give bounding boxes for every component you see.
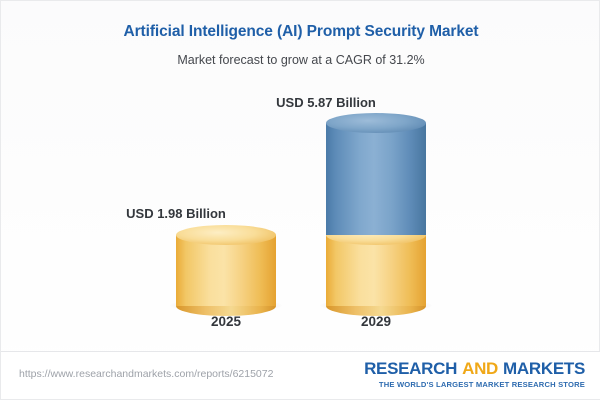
bar-2025[interactable] — [176, 221, 276, 306]
bar-2029[interactable] — [326, 110, 426, 306]
bar-segment-base-2025 — [176, 235, 276, 306]
cylinder-body — [176, 235, 276, 306]
value-label-2025: USD 1.98 Billion — [66, 206, 286, 221]
cylinder-body — [326, 123, 426, 235]
category-label-2029: 2029 — [296, 314, 456, 329]
category-label-2025: 2025 — [146, 314, 306, 329]
report-url[interactable]: https://www.researchandmarkets.com/repor… — [19, 368, 273, 380]
cylinder-body — [326, 235, 426, 306]
value-label-2029: USD 5.87 Billion — [216, 95, 436, 110]
research-and-markets-logo[interactable]: RESEARCHANDMARKETS THE WORLD'S LARGEST M… — [364, 360, 585, 389]
plot-area: USD 1.98 Billion 2025 USD 5.87 Billion — [1, 1, 600, 353]
logo-tagline: THE WORLD'S LARGEST MARKET RESEARCH STOR… — [364, 380, 585, 389]
chart-canvas: Artificial Intelligence (AI) Prompt Secu… — [0, 0, 600, 400]
cylinder-top-cap — [326, 113, 426, 133]
cylinder-top-cap — [176, 225, 276, 245]
logo-word-and: AND — [462, 359, 498, 378]
logo-word-markets: MARKETS — [503, 359, 585, 378]
logo-wordmark: RESEARCHANDMARKETS — [364, 360, 585, 378]
logo-word-research: RESEARCH — [364, 359, 457, 378]
bar-segment-base-2029 — [326, 235, 426, 306]
bar-segment-growth-2029 — [326, 123, 426, 235]
footer: https://www.researchandmarkets.com/repor… — [1, 351, 600, 399]
